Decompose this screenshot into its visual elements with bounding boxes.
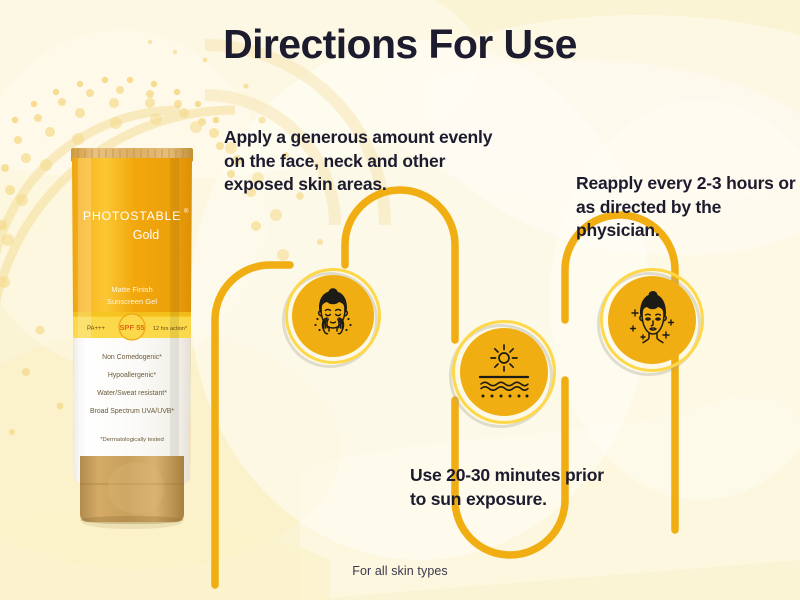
tube-badge-right: 12 hrs action*: [153, 326, 188, 332]
tube-claim-2: Water/Sweat resistant*: [97, 390, 167, 397]
tube-claim-1: Hypoallergenic*: [108, 372, 157, 379]
tube-registered-mark: ®: [184, 208, 189, 215]
step-2-caption: Use 20-30 minutes prior to sun exposure.: [410, 464, 610, 511]
page-title: Directions For Use: [0, 22, 800, 67]
step-icon-3[interactable]: [600, 268, 704, 372]
tube-claim-0: Non Comedogenic*: [102, 354, 162, 361]
tube-badge-center: SPF 55: [119, 323, 145, 332]
tube-variant-text: Gold: [133, 228, 159, 242]
glowing-face-icon: [608, 276, 696, 364]
tube-descriptor-line-2: Sunscreen Gel: [107, 297, 158, 306]
step-1-caption: Apply a generous amount evenly on the fa…: [224, 126, 509, 197]
face-apply-cream-icon: [292, 275, 374, 357]
step-icon-2[interactable]: [452, 320, 556, 424]
tube-descriptor-line-1: Matte Finish: [111, 285, 152, 294]
footer-note: For all skin types: [0, 564, 800, 578]
tube-brand-text: PHOTOSTABLE: [83, 209, 181, 223]
tube-disclaimer: *Dermatologically tested: [100, 437, 164, 443]
tube-badge-left: PA+++: [87, 326, 106, 332]
product-tube-image: PHOTOSTABLE ® Gold Matte Finish Sunscree…: [66, 144, 198, 530]
tube-claim-3: Broad Spectrum UVA/UVB*: [90, 408, 174, 415]
step-3-caption: Reapply every 2-3 hours or as directed b…: [576, 172, 796, 243]
step-icon-1[interactable]: [285, 268, 381, 364]
sun-over-skin-icon: [460, 328, 548, 416]
